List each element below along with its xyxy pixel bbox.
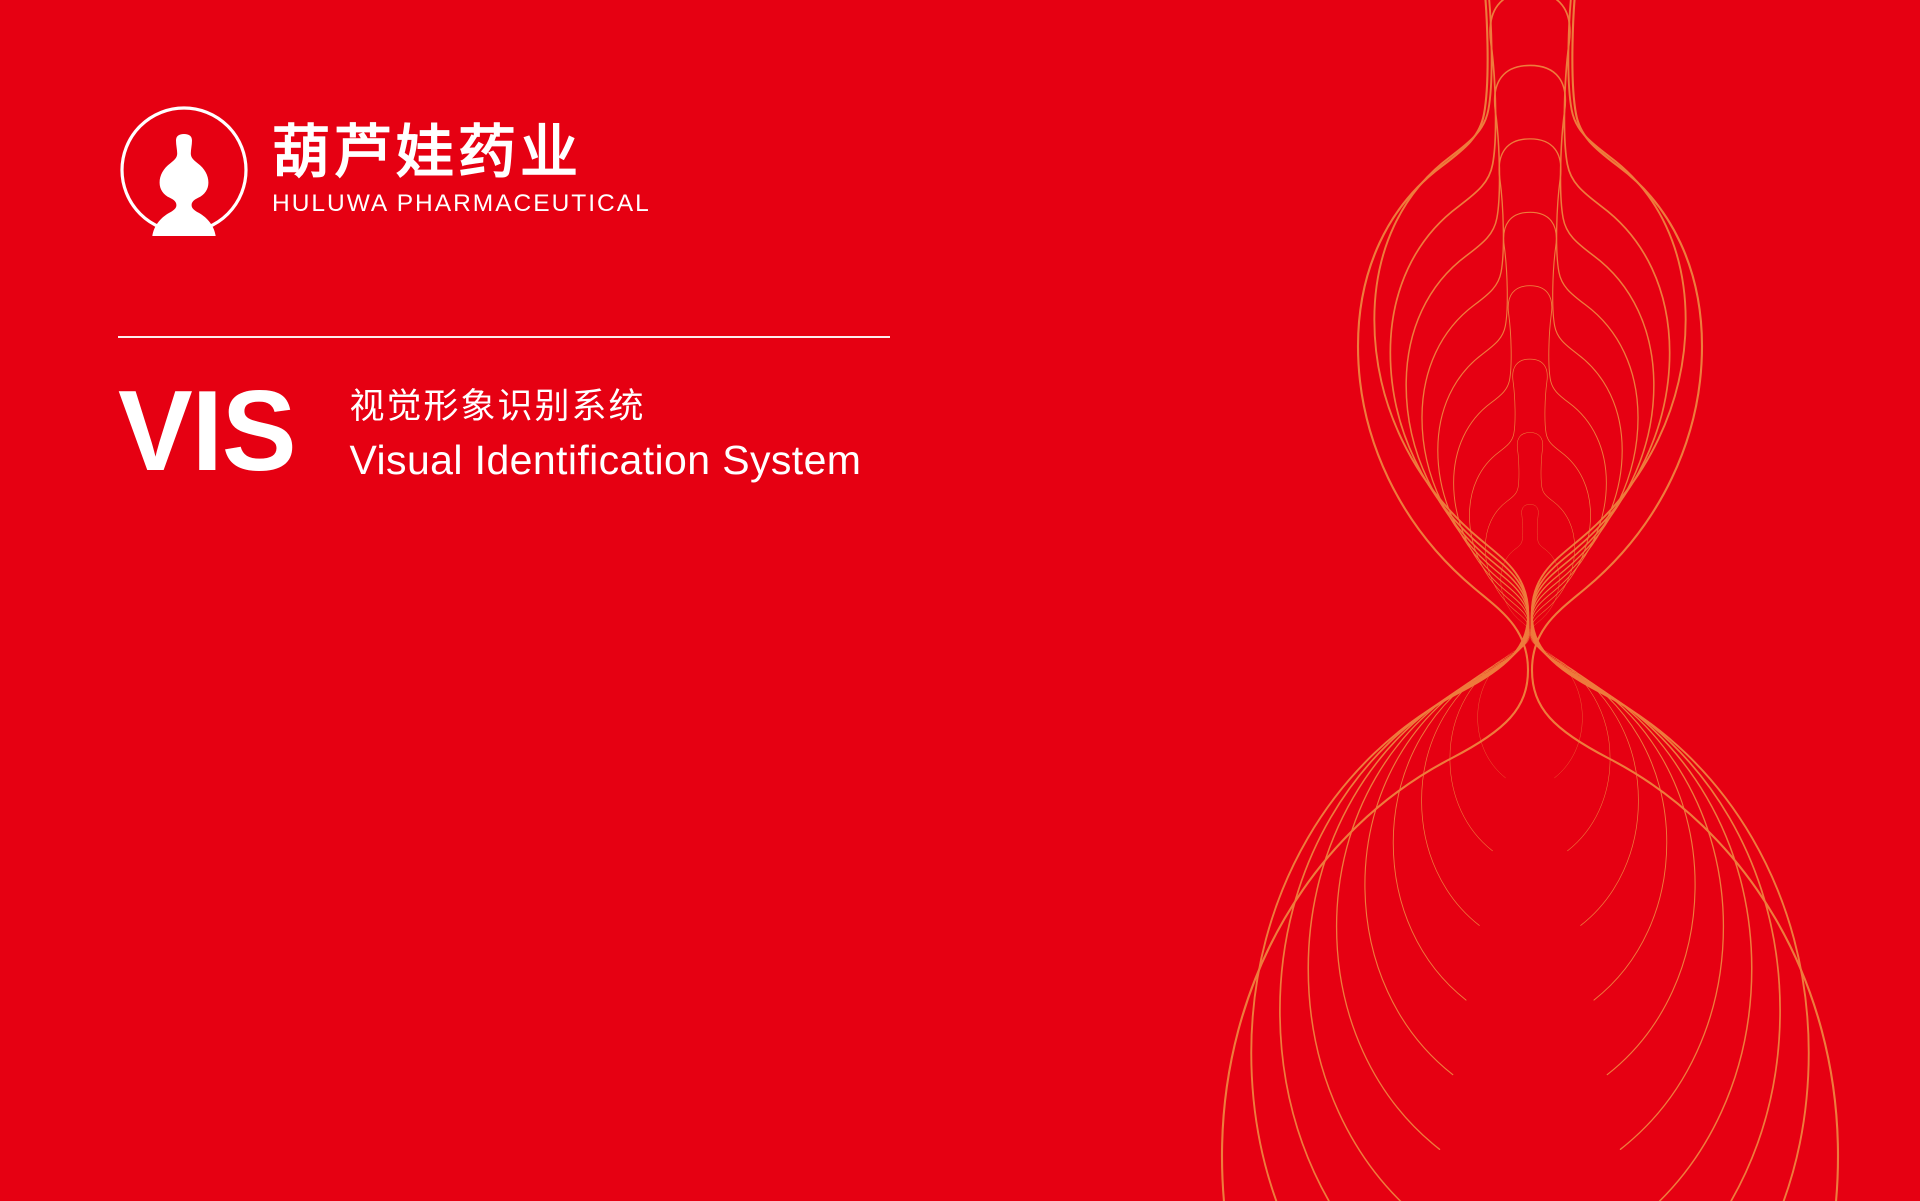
- brand-name-cn: 葫芦娃药业: [272, 122, 651, 183]
- vis-subtitle-group: 视觉形象识别系统 Visual Identification System: [350, 378, 862, 485]
- gourd-in-circle-icon: [118, 104, 250, 236]
- vis-subtitle-en: Visual Identification System: [350, 436, 862, 485]
- gourd-line-art-decoration: [960, 0, 1920, 1201]
- horizontal-divider: [118, 336, 890, 338]
- vis-subtitle-cn: 视觉形象识别系统: [350, 386, 862, 430]
- gourd-rings-svg: [960, 0, 1920, 1201]
- brand-wordmark: 葫芦娃药业 HULUWA PHARMACEUTICAL: [272, 122, 651, 217]
- cover-canvas: 葫芦娃药业 HULUWA PHARMACEUTICAL VIS 视觉形象识别系统…: [0, 0, 1920, 1201]
- vis-acronym: VIS: [118, 378, 296, 483]
- brand-name-en: HULUWA PHARMACEUTICAL: [272, 191, 651, 218]
- vis-title-block: VIS 视觉形象识别系统 Visual Identification Syste…: [118, 378, 861, 485]
- brand-logo-lockup: 葫芦娃药业 HULUWA PHARMACEUTICAL: [118, 104, 651, 236]
